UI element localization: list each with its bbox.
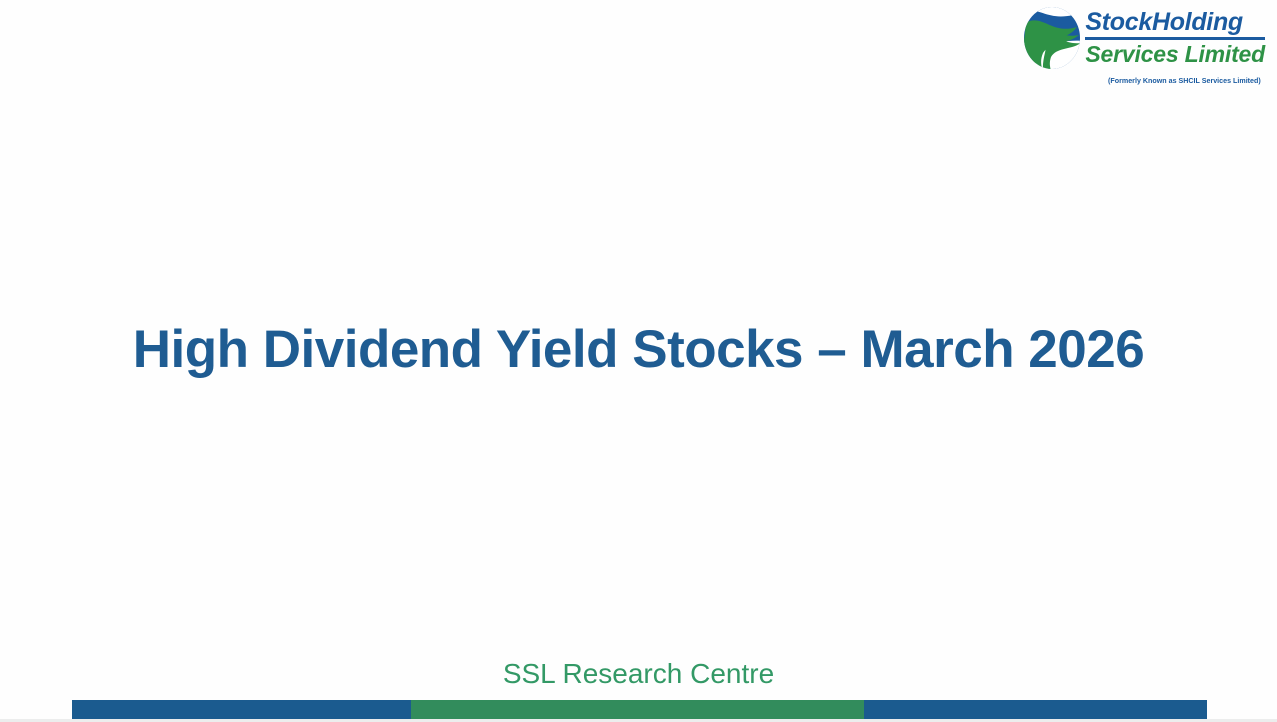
logo-wordmark: StockHolding Services Limited: [1085, 5, 1265, 71]
stockholding-swoosh-emblem-icon: [1021, 5, 1083, 71]
logo-tagline: (Formerly Known as SHCIL Services Limite…: [1108, 76, 1261, 85]
title-slide: StockHolding Services Limited (Formerly …: [0, 0, 1277, 722]
logo-divider-rule: [1085, 37, 1265, 40]
page-subtitle: SSL Research Centre: [0, 656, 1277, 692]
page-title: High Dividend Yield Stocks – March 2026: [0, 315, 1277, 385]
logo-line-services-limited: Services Limited: [1085, 42, 1265, 67]
footer-bar-right: [864, 700, 1207, 719]
footer-bar-left: [72, 700, 411, 719]
footer-bar-group: [0, 700, 1277, 719]
company-logo: StockHolding Services Limited (Formerly …: [1037, 3, 1265, 87]
logo-line-stockholding: StockHolding: [1085, 9, 1265, 36]
footer-bar-middle: [411, 700, 864, 719]
logo-main-row: StockHolding Services Limited: [1021, 3, 1265, 73]
